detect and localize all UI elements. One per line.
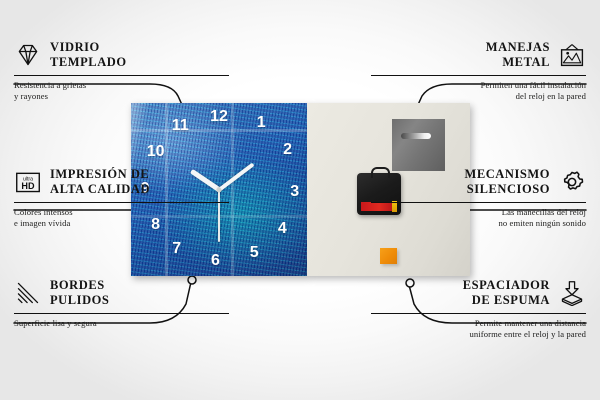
clock-numeral: 4 (278, 221, 287, 237)
callout-divider (14, 313, 229, 315)
callout-divider (371, 313, 586, 315)
callout-sub-line2: del reloj en la pared (371, 91, 586, 102)
callout-title-line2: DE ESPUMA (463, 293, 550, 308)
foam-spacer-square (380, 248, 397, 264)
polished-edge-icon (14, 280, 42, 306)
callout-sub-line1: Permite mantener una distancia (371, 318, 586, 329)
callout-divider (371, 75, 586, 77)
callout-title-line1: BORDES (50, 278, 109, 293)
clock-numeral: 12 (210, 109, 228, 125)
callout-mecanismo-silencioso: MECANISMO SILENCIOSO Las manecillas del … (371, 167, 586, 230)
clock-numeral: 6 (211, 253, 220, 269)
infographic-canvas: 12 1 2 3 4 5 6 7 8 9 10 11 (0, 0, 600, 400)
callout-sub-line1: Resistencia a grietas (14, 80, 229, 91)
callout-title-line2: ALTA CALIDAD (50, 182, 150, 197)
clock-numeral: 3 (290, 184, 299, 200)
callout-title-line1: VIDRIO (50, 40, 127, 55)
callout-title-line2: PULIDOS (50, 293, 109, 308)
callout-sub-line1: Superficie lisa y segura (14, 318, 229, 329)
callout-title-line1: MANEJAS (486, 40, 550, 55)
callout-espaciador-espuma: ESPACIADOR DE ESPUMA Permite mantener un… (371, 278, 586, 341)
callout-sub-line1: Colores intensos (14, 207, 229, 218)
hanger-keyhole-slot (401, 133, 431, 139)
callout-sub-line1: Permiten una fácil instalación (371, 80, 586, 91)
callout-title-line2: METAL (486, 55, 550, 70)
callout-title-line2: SILENCIOSO (464, 182, 550, 197)
callout-title-line2: TEMPLADO (50, 55, 127, 70)
callout-divider (14, 202, 229, 204)
callout-title-line1: ESPACIADOR (463, 278, 550, 293)
clock-numeral: 10 (147, 144, 165, 160)
callout-vidrio-templado: VIDRIO TEMPLADO Resistencia a grietas y … (14, 40, 229, 103)
clock-numeral: 1 (257, 115, 266, 131)
gear-icon (558, 169, 586, 195)
callout-impresion-alta-calidad: ultra HD IMPRESIÓN DE ALTA CALIDAD Color… (14, 167, 229, 230)
diamond-icon (14, 42, 42, 68)
callout-title-line1: MECANISMO (464, 167, 550, 182)
ultra-hd-icon: ultra HD (14, 169, 42, 195)
clock-numeral: 5 (250, 245, 259, 261)
callout-title-line1: IMPRESIÓN DE (50, 167, 150, 182)
callout-sub-line2: uniforme entre el reloj y la pared (371, 329, 586, 340)
arrow-onto-pad-icon (558, 280, 586, 306)
clock-numeral: 11 (172, 118, 189, 134)
metal-hanger-plate (392, 119, 445, 171)
callout-bordes-pulidos: BORDES PULIDOS Superficie lisa y segura (14, 278, 229, 329)
callout-sub-line2: no emiten ningún sonido (371, 218, 586, 229)
clock-numeral: 7 (172, 241, 181, 257)
callout-manejas-metal: MANEJAS METAL Permiten una fácil instala… (371, 40, 586, 103)
callout-sub-line2: e imagen vívida (14, 218, 229, 229)
svg-text:HD: HD (21, 181, 35, 191)
callout-divider (371, 202, 586, 204)
clock-numeral: 2 (283, 142, 292, 158)
picture-hanger-icon (558, 42, 586, 68)
callout-sub-line1: Las manecillas del reloj (371, 207, 586, 218)
callout-sub-line2: y rayones (14, 91, 229, 102)
callout-divider (14, 75, 229, 77)
